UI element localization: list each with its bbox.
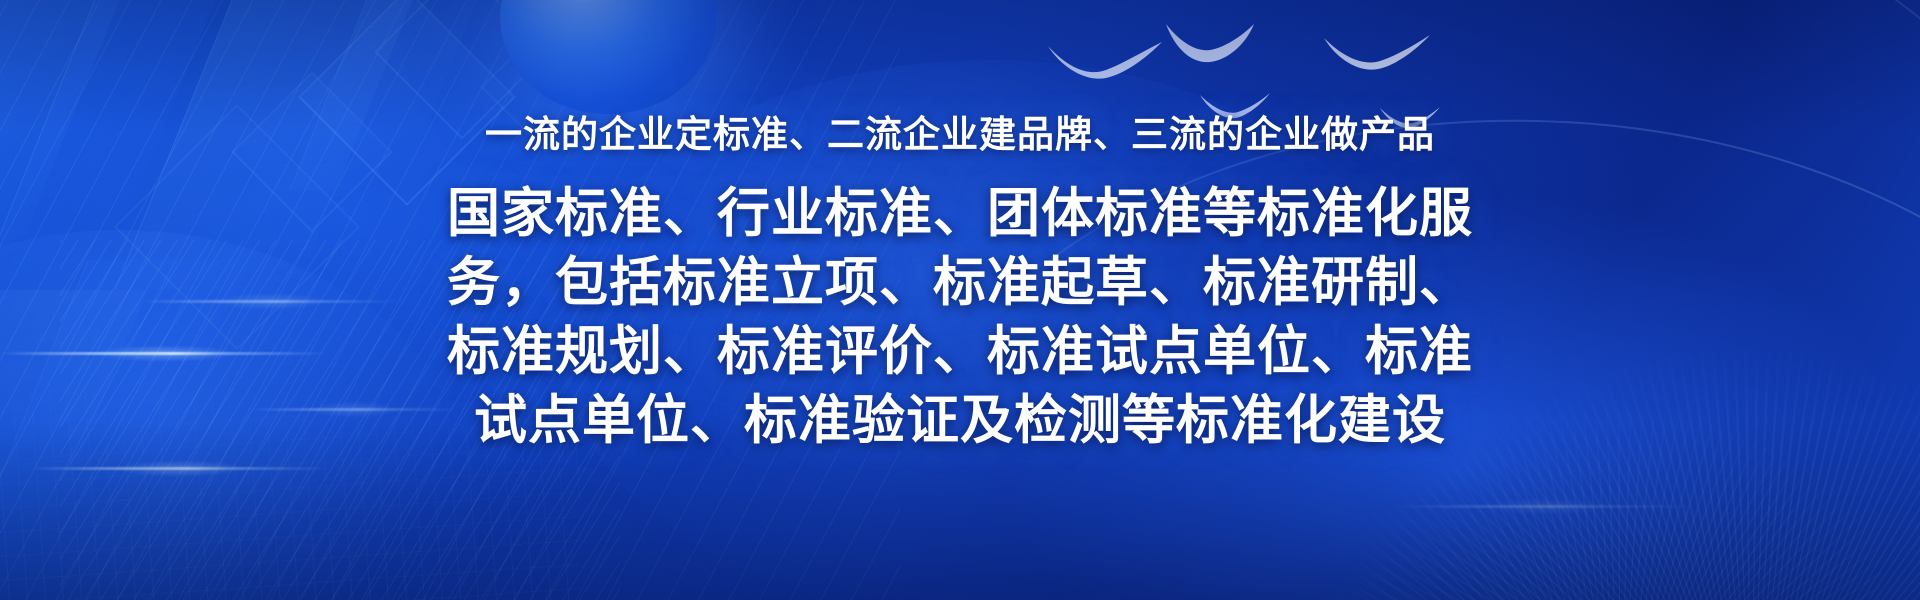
- subhead-line-1: 国家标准、行业标准、团体标准等标准化服: [440, 180, 1480, 249]
- subhead-line-4: 试点单位、标准验证及检测等标准化建设: [440, 387, 1480, 456]
- banner-subhead: 国家标准、行业标准、团体标准等标准化服 务，包括标准立项、标准起草、标准研制、 …: [440, 180, 1480, 456]
- subhead-line-3: 标准规划、标准评价、标准试点单位、标准: [440, 318, 1480, 387]
- subhead-line-2: 务，包括标准立项、标准起草、标准研制、: [440, 249, 1480, 318]
- promo-banner: 一流的企业定标准、二流企业建品牌、三流的企业做产品 国家标准、行业标准、团体标准…: [0, 0, 1920, 600]
- banner-headline: 一流的企业定标准、二流企业建品牌、三流的企业做产品: [0, 112, 1920, 158]
- banner-content: 一流的企业定标准、二流企业建品牌、三流的企业做产品 国家标准、行业标准、团体标准…: [0, 0, 1920, 456]
